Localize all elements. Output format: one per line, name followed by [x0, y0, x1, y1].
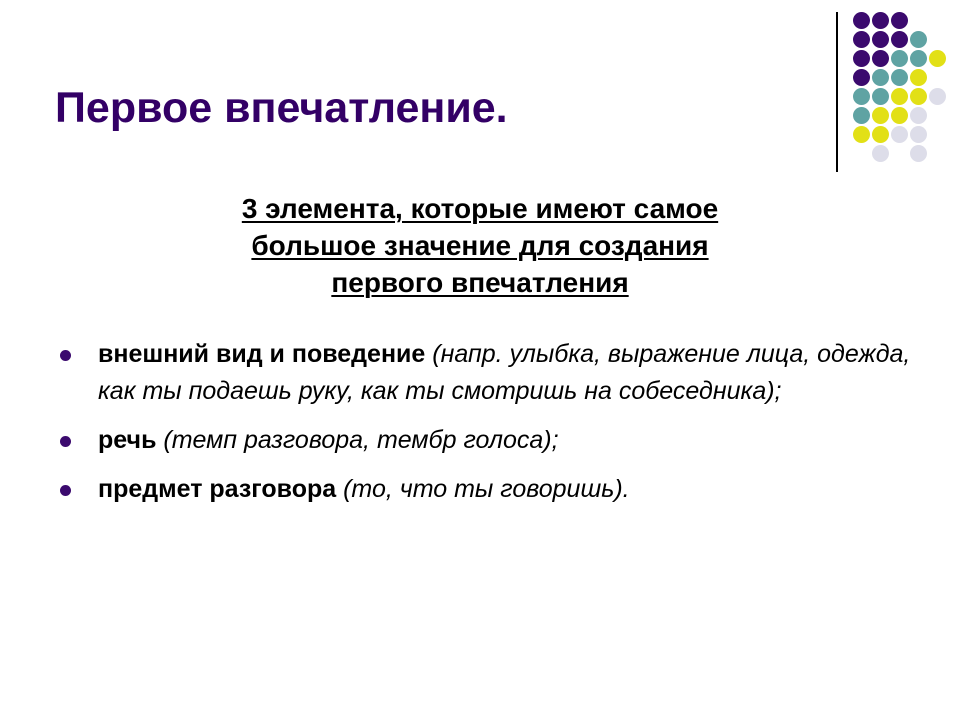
deco-dot-lavender — [910, 107, 927, 124]
deco-dot-teal — [891, 50, 908, 67]
subheading-line-2: большое значение для создания — [118, 227, 842, 264]
list-item: внешний вид и поведение (напр. улыбка, в… — [52, 336, 914, 410]
deco-dot-purple — [891, 31, 908, 48]
deco-dot-teal — [910, 50, 927, 67]
bullet-term: внешний вид и поведение — [98, 340, 425, 368]
deco-dot-teal — [910, 31, 927, 48]
deco-dot-lavender — [929, 88, 946, 105]
bullet-dot-icon — [60, 436, 71, 447]
deco-dot-purple — [853, 12, 870, 29]
bullet-term: предмет разговора — [98, 475, 336, 503]
deco-dot-lavender — [910, 126, 927, 143]
deco-dot-lavender — [891, 126, 908, 143]
bullet-detail: (то, что ты говоришь). — [343, 475, 630, 503]
deco-dot-lavender — [872, 145, 889, 162]
deco-dot-teal — [853, 88, 870, 105]
deco-dot-yellow — [891, 107, 908, 124]
slide-canvas: Первое впечатление. 3 элемента, которые … — [0, 0, 960, 720]
deco-dot-yellow — [910, 69, 927, 86]
deco-dot-yellow — [929, 50, 946, 67]
deco-dot-teal — [853, 107, 870, 124]
list-item: речь (темп разговора, тембр голоса); — [52, 422, 914, 459]
deco-dot-lavender — [910, 145, 927, 162]
list-item: предмет разговора (то, что ты говоришь). — [52, 471, 914, 508]
deco-dot-yellow — [872, 126, 889, 143]
deco-dot-yellow — [853, 126, 870, 143]
deco-dot-yellow — [891, 88, 908, 105]
deco-dot-purple — [853, 50, 870, 67]
deco-dot-purple — [872, 50, 889, 67]
subheading: 3 элемента, которые имеют самое большое … — [118, 190, 842, 301]
deco-dot-teal — [872, 88, 889, 105]
deco-dot-purple — [872, 12, 889, 29]
deco-dot-yellow — [872, 107, 889, 124]
page-title: Первое впечатление. — [55, 83, 795, 133]
deco-dot-purple — [872, 31, 889, 48]
bullet-dot-icon — [60, 485, 71, 496]
bullet-list: внешний вид и поведение (напр. улыбка, в… — [52, 336, 914, 508]
deco-dot-purple — [853, 69, 870, 86]
decorative-dot-motif — [820, 0, 960, 180]
deco-dot-purple — [891, 12, 908, 29]
subheading-line-3: первого впечатления — [118, 264, 842, 301]
vertical-rule-divider — [836, 12, 838, 172]
dot-grid — [853, 12, 958, 172]
deco-dot-purple — [853, 31, 870, 48]
bullet-term: речь — [98, 426, 156, 454]
deco-dot-teal — [872, 69, 889, 86]
deco-dot-yellow — [910, 88, 927, 105]
bullet-dot-icon — [60, 350, 71, 361]
subheading-line-1: 3 элемента, которые имеют самое — [118, 190, 842, 227]
deco-dot-teal — [891, 69, 908, 86]
bullet-detail: (темп разговора, тембр голоса); — [163, 426, 558, 454]
